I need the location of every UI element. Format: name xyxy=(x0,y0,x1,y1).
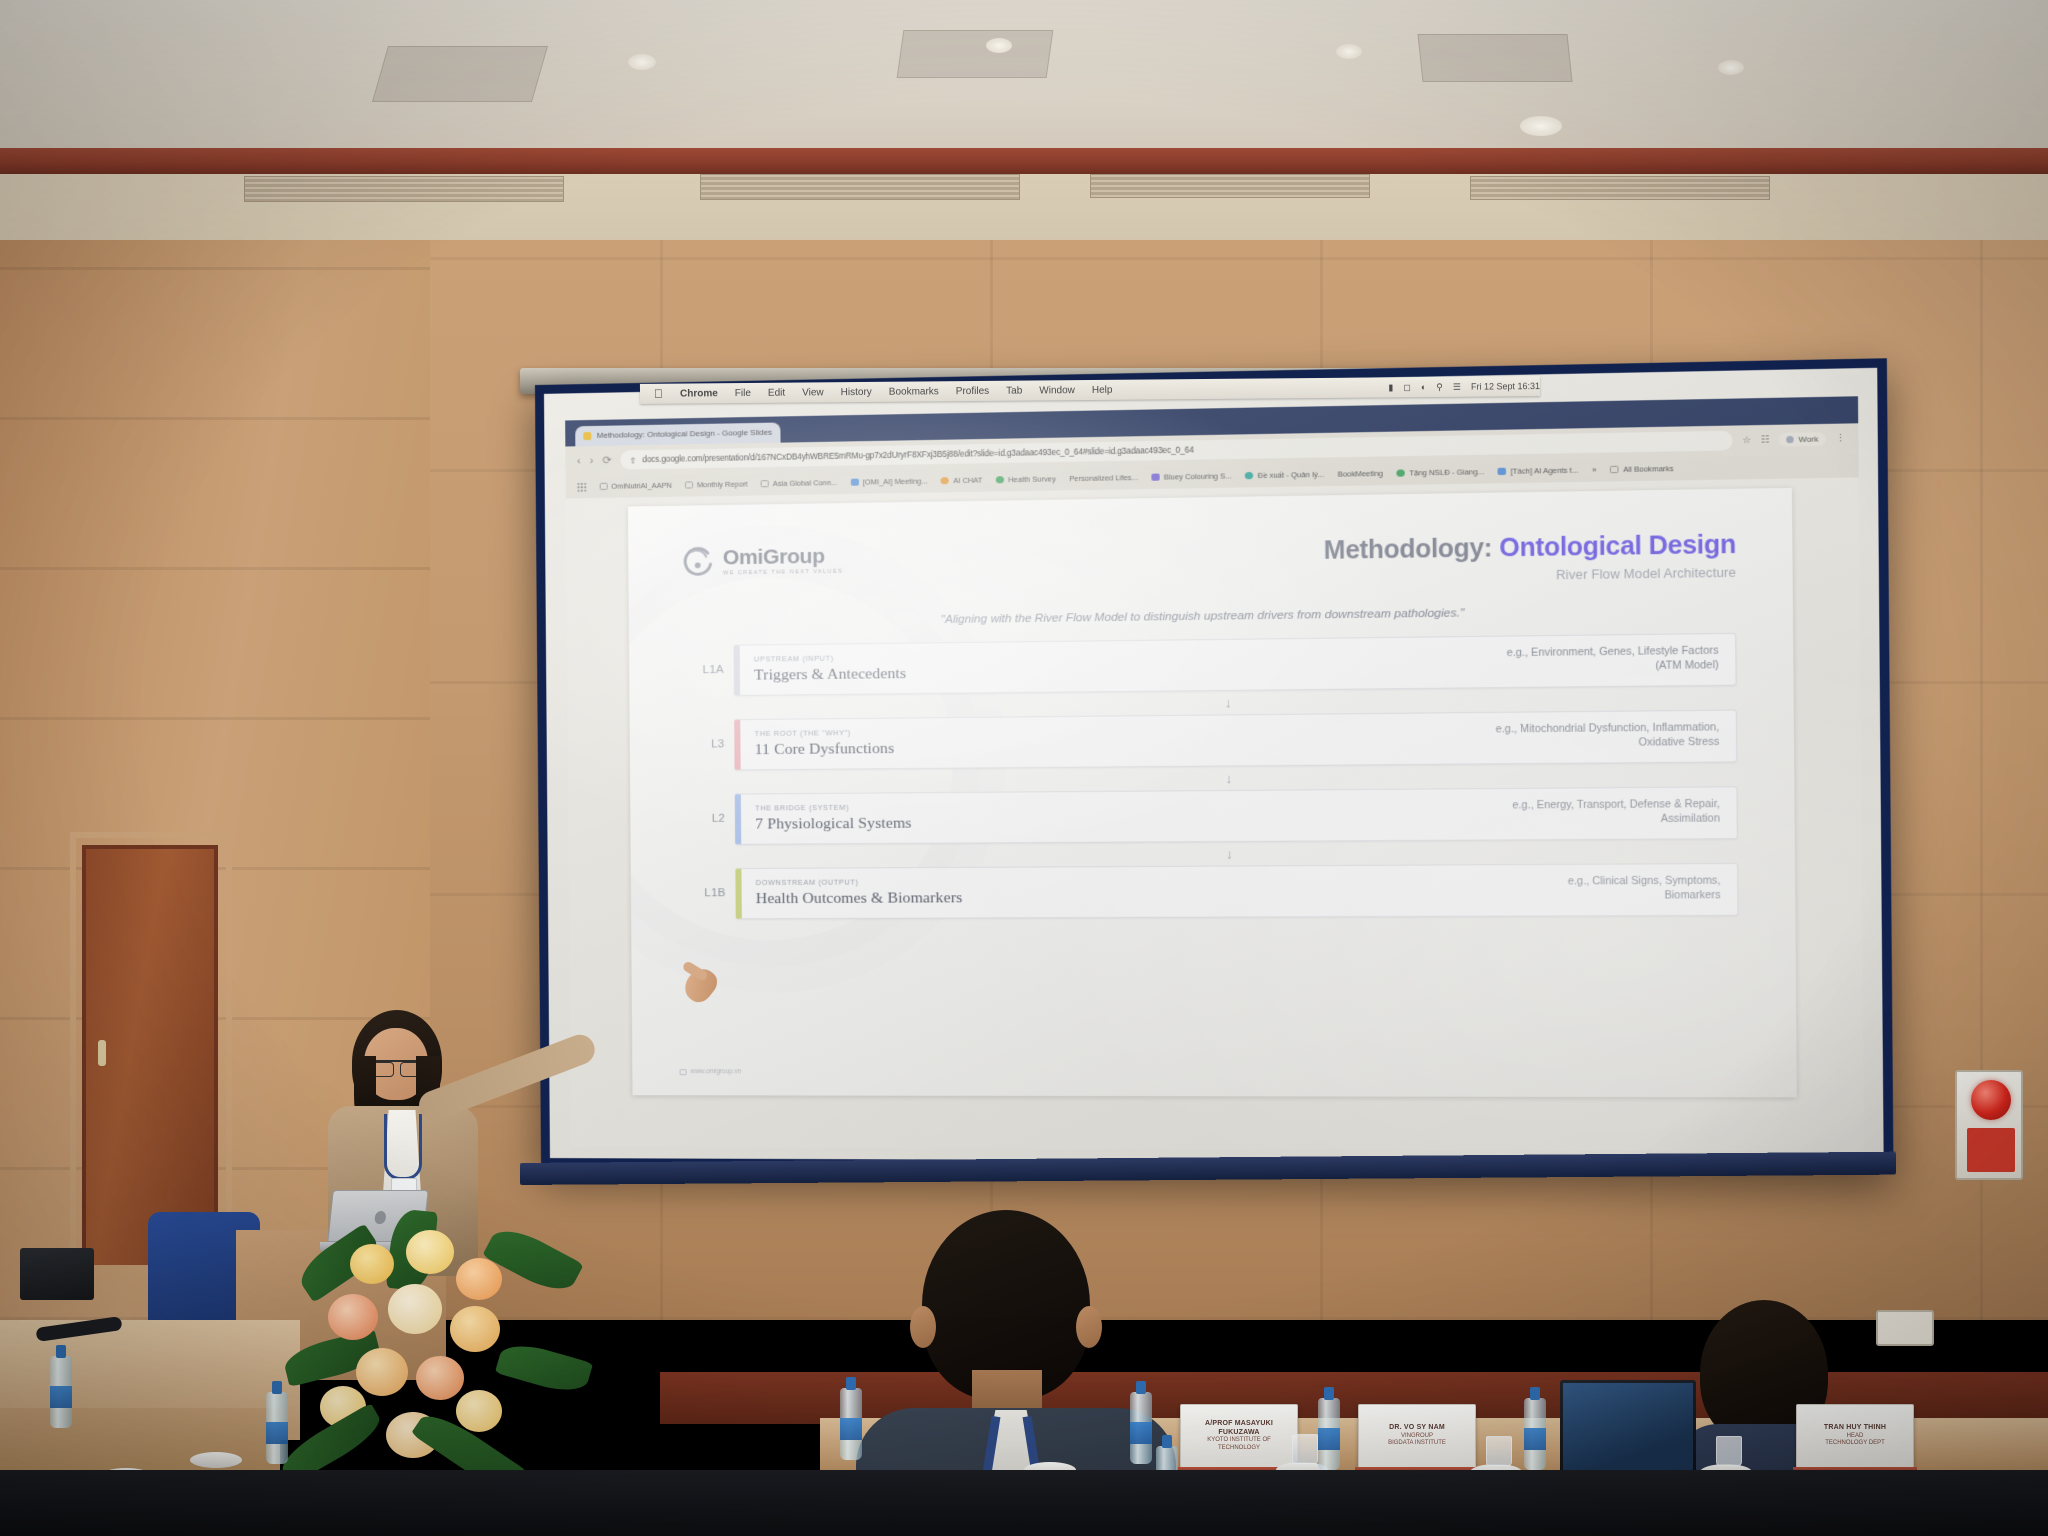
alarm-light-icon xyxy=(1971,1080,2011,1120)
menubar-item-profiles[interactable]: Profiles xyxy=(956,385,989,396)
flow-example-line: e.g., Clinical Signs, Symptoms, xyxy=(1568,874,1721,889)
laptop-screen xyxy=(1563,1383,1693,1473)
wifi-icon[interactable]: ◐ xyxy=(1421,382,1427,392)
audience-ear-left xyxy=(910,1306,936,1348)
flow-card-left: DOWNSTREAM (OUTPUT) Health Outcomes & Bi… xyxy=(756,877,963,908)
forward-icon[interactable]: › xyxy=(590,455,594,467)
drinking-glass xyxy=(1716,1436,1742,1466)
ceiling-panel xyxy=(372,46,548,102)
bookmark-label: Personalized Lifes... xyxy=(1069,473,1138,483)
back-icon[interactable]: ‹ xyxy=(577,455,581,467)
nameplate-org: TECHNOLOGY xyxy=(1218,1445,1260,1453)
bottle-label xyxy=(1318,1428,1340,1450)
menubar-item-help[interactable]: Help xyxy=(1092,384,1113,395)
flower xyxy=(450,1306,500,1352)
air-vent xyxy=(1090,174,1370,198)
slides-favicon-icon xyxy=(583,432,591,440)
bottle-label xyxy=(1130,1422,1152,1444)
logo-name: OmiGroup xyxy=(723,545,843,568)
nameplate-fukuzawa: A/PROF MASAYUKI FUKUZAWA KYOTO INSTITUTE… xyxy=(1180,1404,1298,1468)
flow-row-l3: L3 THE ROOT (THE "WHY") 11 Core Dysfunct… xyxy=(682,709,1738,770)
screen-icon[interactable]: ◻ xyxy=(1403,382,1411,393)
projected-image-surface: Methodology: Ontological Design - Google… xyxy=(544,368,1884,1163)
flow-card-upstream[interactable]: UPSTREAM (INPUT) Triggers & Antecedents … xyxy=(734,632,1737,695)
flow-row-l2: L2 THE BRIDGE (SYSTEM) 7 Physiological S… xyxy=(682,786,1738,845)
water-bottle xyxy=(1318,1398,1340,1470)
flower xyxy=(406,1230,454,1274)
flow-card-left: THE BRIDGE (SYSTEM) 7 Physiological Syst… xyxy=(755,802,911,833)
nameplate-vo-sy-nam: DR. VO SY NAM VINGROUP BIGDATA INSTITUTE xyxy=(1358,1404,1476,1468)
air-vent xyxy=(1470,176,1770,200)
projection-screen: Methodology: Ontological Design - Google… xyxy=(535,358,1894,1172)
bookmark-de-xuat-quan-ly[interactable]: Đề xuất - Quản lý... xyxy=(1245,470,1324,481)
bookmark-tang-nsld[interactable]: Tặng NSLĐ - Giang... xyxy=(1397,467,1485,478)
apps-grid-icon[interactable] xyxy=(576,482,586,492)
flow-example-line: e.g., Energy, Transport, Defense & Repai… xyxy=(1512,798,1720,814)
ceiling-light xyxy=(1718,60,1744,75)
nameplate-org: KYOTO INSTITUTE OF xyxy=(1207,1437,1271,1445)
slide-title-block: Methodology: Ontological Design River Fl… xyxy=(1324,530,1737,585)
omigroup-logo-text: OmiGroup WE CREATE THE NEXT VALUES xyxy=(723,545,844,577)
flow-card-kicker: DOWNSTREAM (OUTPUT) xyxy=(756,877,962,887)
flower-arrangement xyxy=(290,1200,590,1470)
bookmark-label: AI CHAT xyxy=(953,476,982,486)
flow-card-title: Triggers & Antecedents xyxy=(754,664,906,684)
bookmark-ai-chat[interactable]: AI CHAT xyxy=(941,476,983,486)
flow-example-line: (ATM Model) xyxy=(1507,659,1719,675)
conference-room-photo:  Chrome File Edit View History Bookmark… xyxy=(0,0,2048,1536)
flow-arrow-icon: ↓ xyxy=(735,767,1738,788)
menubar-item-window[interactable]: Window xyxy=(1039,385,1075,396)
drinking-glass xyxy=(1292,1434,1318,1464)
bookmark-bluey-colouring[interactable]: Bluey Colouring S... xyxy=(1151,472,1231,483)
front-table-skirt xyxy=(0,1470,2048,1536)
browser-tab-active[interactable]: Methodology: Ontological Design - Google… xyxy=(575,422,781,446)
flow-level-label: L1A xyxy=(681,664,723,677)
omi-circle-logo-icon xyxy=(681,545,716,580)
flow-card-examples: e.g., Mitochondrial Dysfunction, Inflamm… xyxy=(1496,721,1720,751)
nameplate-org: VINGROUP xyxy=(1401,1433,1433,1441)
flow-card-root[interactable]: THE ROOT (THE "WHY") 11 Core Dysfunction… xyxy=(734,709,1737,770)
flower xyxy=(350,1244,394,1284)
doc-icon xyxy=(1151,474,1159,481)
bookmark-ominutriai[interactable]: OmiNutriAI_AAPN xyxy=(599,481,672,491)
globe-icon xyxy=(679,1069,686,1075)
chrome-browser-window: Methodology: Ontological Design - Google… xyxy=(565,396,1864,1151)
menubar-item-bookmarks[interactable]: Bookmarks xyxy=(889,386,939,397)
bookmark-label: OmiNutriAI_AAPN xyxy=(611,481,672,491)
globe-icon xyxy=(1397,470,1405,477)
pencil-icon xyxy=(941,477,949,484)
menubar-tray: ▮ ◻ ◐ ⚲ ☰ Fri 12 Sept 16:31 xyxy=(1388,381,1540,393)
wall-cornice xyxy=(0,148,2048,174)
bookmark-label: Đề xuất - Quản lý... xyxy=(1258,470,1325,480)
flow-card-title: 7 Physiological Systems xyxy=(755,814,911,833)
bookmark-omi-ai-meeting[interactable]: [OMI_AI] Meeting... xyxy=(851,477,928,487)
slide-footer-url: www.omigroup.vn xyxy=(690,1069,741,1076)
ceiling-light xyxy=(1336,44,1362,59)
slide-footer: www.omigroup.vn xyxy=(679,1069,741,1076)
flow-card-examples: e.g., Energy, Transport, Defense & Repai… xyxy=(1512,798,1720,828)
glasses-icon xyxy=(372,1060,422,1073)
nameplate-name: TRAN HUY THINH xyxy=(1824,1424,1886,1433)
nameplate-org: HEAD xyxy=(1847,1433,1864,1441)
bookmark-tach-ai-agents[interactable]: [Tách] AI Agents t... xyxy=(1498,466,1579,477)
flow-card-kicker: THE BRIDGE (SYSTEM) xyxy=(755,802,911,812)
slide-title: Methodology: Ontological Design xyxy=(1324,530,1736,566)
reload-icon[interactable]: ⟳ xyxy=(602,454,611,467)
browser-tab-title: Methodology: Ontological Design - Google… xyxy=(597,428,772,440)
bookmark-label: Tặng NSLĐ - Giang... xyxy=(1409,467,1484,477)
flow-card-downstream[interactable]: DOWNSTREAM (OUTPUT) Health Outcomes & Bi… xyxy=(735,863,1738,919)
river-flow-diagram: L1A UPSTREAM (INPUT) Triggers & Antecede… xyxy=(681,632,1739,919)
nameplate-name: A/PROF MASAYUKI FUKUZAWA xyxy=(1185,1420,1293,1438)
omigroup-logo: OmiGroup WE CREATE THE NEXT VALUES xyxy=(681,543,844,580)
bookmark-health-survey[interactable]: Health Survey xyxy=(996,475,1056,485)
folder-icon xyxy=(1610,466,1619,473)
profile-avatar-icon xyxy=(1787,436,1795,443)
ceiling-panel xyxy=(1417,34,1572,82)
side-monitor xyxy=(20,1248,94,1300)
flow-card-bridge[interactable]: THE BRIDGE (SYSTEM) 7 Physiological Syst… xyxy=(735,786,1738,845)
menubar-item-edit[interactable]: Edit xyxy=(768,387,785,398)
ceiling-light xyxy=(986,38,1012,53)
flow-example-line: Assimilation xyxy=(1512,812,1720,828)
flow-card-kicker: THE ROOT (THE "WHY") xyxy=(755,727,895,737)
flower xyxy=(416,1356,464,1400)
bookmark-label: Bluey Colouring S... xyxy=(1164,472,1232,482)
slide-header: OmiGroup WE CREATE THE NEXT VALUES Metho… xyxy=(681,530,1737,594)
menubar-item-chrome[interactable]: Chrome xyxy=(680,388,718,399)
flow-card-title: Health Outcomes & Biomarkers xyxy=(756,889,963,908)
search-icon[interactable]: ⚲ xyxy=(1436,381,1443,392)
water-bottle xyxy=(1524,1398,1546,1470)
circle-icon xyxy=(1245,472,1253,479)
bookmark-label: BookMeeting xyxy=(1338,469,1383,479)
flow-card-left: THE ROOT (THE "WHY") 11 Core Dysfunction… xyxy=(755,727,895,758)
presenter-lanyard xyxy=(384,1114,422,1180)
extensions-icon[interactable]: ☷ xyxy=(1761,434,1770,446)
flow-example-line: Biomarkers xyxy=(1568,889,1721,904)
saucer xyxy=(190,1452,242,1468)
bookmark-bookmeeting[interactable]: BookMeeting xyxy=(1338,469,1383,479)
menubar-clock[interactable]: Fri 12 Sept 16:31 xyxy=(1471,381,1540,392)
emergency-alarm-box[interactable] xyxy=(1955,1070,2023,1180)
menubar-item-view[interactable]: View xyxy=(802,387,824,398)
slide-quote: "Aligning with the River Flow Model to d… xyxy=(681,602,1736,628)
nameplate-org: TECHNOLOGY DEPT xyxy=(1825,1440,1885,1448)
flow-level-label: L2 xyxy=(683,813,725,825)
bookmark-label: Monthly Report xyxy=(697,480,748,490)
ceiling-light xyxy=(1520,116,1562,136)
folder-icon xyxy=(685,482,693,489)
share-icon[interactable]: ⇪ xyxy=(630,455,637,465)
wall-socket xyxy=(1876,1310,1934,1346)
flower xyxy=(356,1348,408,1396)
flower xyxy=(328,1294,378,1340)
profile-chip-label: Work xyxy=(1798,435,1818,445)
door-handle-icon[interactable] xyxy=(98,1040,106,1066)
address-bar-url: docs.google.com/presentation/d/167NCxDB4… xyxy=(642,446,1194,465)
presentation-slide: OmiGroup WE CREATE THE NEXT VALUES Metho… xyxy=(628,488,1797,1098)
browser-toolbar-right: ☆ ☷ Work ⋮ xyxy=(1742,432,1845,447)
flow-example-line: Oxidative Stress xyxy=(1496,735,1720,751)
doc-icon xyxy=(851,479,859,486)
leaf xyxy=(495,1338,593,1398)
list-icon xyxy=(1498,468,1507,475)
bookmark-monthly-report[interactable]: Monthly Report xyxy=(685,480,748,490)
flow-card-left: UPSTREAM (INPUT) Triggers & Antecedents xyxy=(754,652,906,684)
bottle-label xyxy=(50,1386,72,1408)
bookmark-asia-global[interactable]: Asia Global Conn... xyxy=(761,478,838,488)
menubar-spacer xyxy=(1129,388,1371,390)
nameplate-tran-huy-thinh: TRAN HUY THINH HEAD TECHNOLOGY DEPT xyxy=(1796,1404,1914,1468)
bookmark-personalized-lifestyle[interactable]: Personalized Lifes... xyxy=(1069,473,1138,483)
bookmarks-overflow-icon[interactable]: » xyxy=(1592,465,1596,474)
logo-tagline: WE CREATE THE NEXT VALUES xyxy=(723,569,843,576)
slide-subtitle: River Flow Model Architecture xyxy=(1324,565,1736,585)
battery-icon[interactable]: ▮ xyxy=(1388,382,1393,393)
flow-card-examples: e.g., Environment, Genes, Lifestyle Fact… xyxy=(1507,644,1719,675)
profile-chip[interactable]: Work xyxy=(1779,432,1826,446)
water-bottle xyxy=(840,1388,862,1460)
bookmark-label: All Bookmarks xyxy=(1623,464,1673,474)
ceiling-panel xyxy=(897,30,1054,78)
ceiling-light xyxy=(628,54,656,70)
flow-arrow-icon: ↓ xyxy=(735,844,1738,863)
star-icon[interactable]: ☆ xyxy=(1742,435,1751,447)
nameplate-name: DR. VO SY NAM xyxy=(1389,1424,1445,1433)
flow-row-l1a: L1A UPSTREAM (INPUT) Triggers & Antecede… xyxy=(681,632,1737,696)
menubar-item-tab[interactable]: Tab xyxy=(1006,385,1022,396)
drinking-glass xyxy=(1486,1436,1512,1466)
bottle-label xyxy=(1524,1428,1546,1450)
globe-icon xyxy=(996,476,1004,483)
air-vent xyxy=(244,176,564,202)
flower xyxy=(388,1284,442,1334)
flow-row-l1b: L1B DOWNSTREAM (OUTPUT) Health Outcomes … xyxy=(683,863,1739,920)
water-bottle xyxy=(50,1356,72,1428)
air-vent xyxy=(700,174,1020,200)
menubar-item-file[interactable]: File xyxy=(735,387,751,398)
flow-card-title: 11 Core Dysfunctions xyxy=(755,739,895,758)
slide-title-accent: Ontological Design xyxy=(1499,530,1736,562)
water-bottle xyxy=(1130,1392,1152,1464)
slide-title-prefix: Methodology: xyxy=(1324,533,1500,564)
flow-level-label: L1B xyxy=(683,887,725,899)
alarm-label-plate xyxy=(1967,1128,2015,1172)
bottle-label xyxy=(840,1418,862,1440)
folder-icon xyxy=(599,483,607,490)
audience-laptop xyxy=(1560,1380,1696,1476)
menu-kebab-icon[interactable]: ⋮ xyxy=(1836,433,1846,445)
bookmark-label: [OMI_AI] Meeting... xyxy=(863,477,928,487)
apple-icon[interactable]:  xyxy=(654,387,663,401)
audience-ear-right xyxy=(1076,1306,1102,1348)
bookmark-label: Health Survey xyxy=(1008,475,1056,485)
water-bottle xyxy=(266,1392,288,1464)
flower xyxy=(456,1258,502,1300)
bottle-label xyxy=(266,1422,288,1444)
control-center-icon[interactable]: ☰ xyxy=(1453,381,1461,392)
bookmark-label: Asia Global Conn... xyxy=(773,478,838,488)
flower xyxy=(456,1390,502,1432)
flow-level-label: L3 xyxy=(682,738,724,750)
flow-card-examples: e.g., Clinical Signs, Symptoms, Biomarke… xyxy=(1568,874,1721,903)
flow-card-kicker: UPSTREAM (INPUT) xyxy=(754,652,906,663)
folder-icon xyxy=(761,480,769,487)
flow-example-line: e.g., Mitochondrial Dysfunction, Inflamm… xyxy=(1496,721,1720,737)
bookmark-all-bookmarks[interactable]: All Bookmarks xyxy=(1610,464,1673,474)
menubar-item-history[interactable]: History xyxy=(841,386,872,397)
slides-canvas-area: OmiGroup WE CREATE THE NEXT VALUES Metho… xyxy=(565,477,1864,1151)
bookmark-label: [Tách] AI Agents t... xyxy=(1510,466,1578,476)
nameplate-org: BIGDATA INSTITUTE xyxy=(1388,1440,1446,1448)
